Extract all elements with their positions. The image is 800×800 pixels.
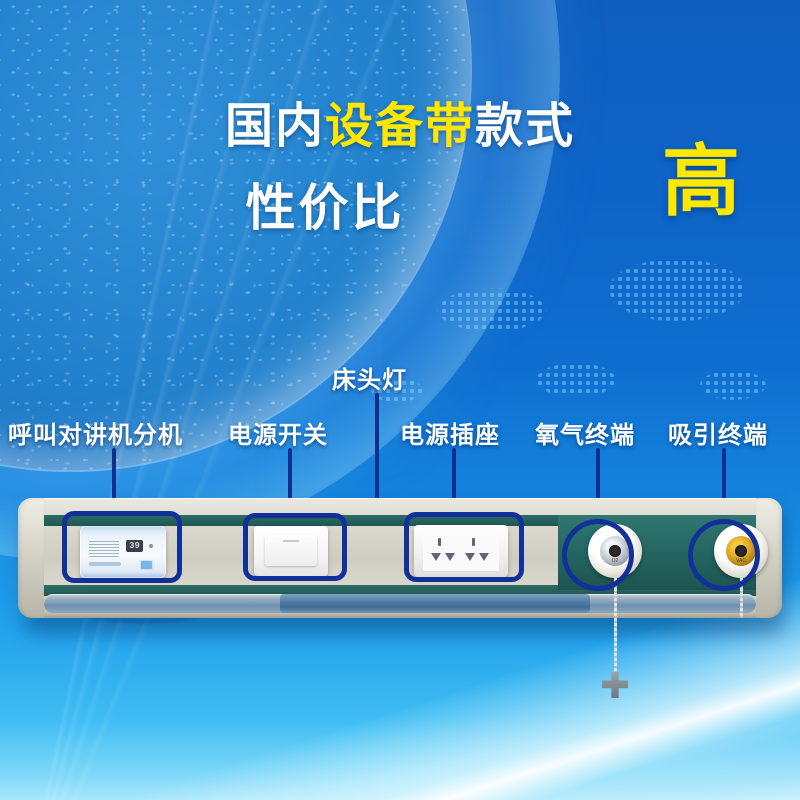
headline-emphasis-character: 高 (662, 142, 740, 220)
callout-label-oxygen: 氧气终端 (535, 415, 635, 450)
highlight-circle-suction (688, 519, 760, 591)
callout-label-suction: 吸引终端 (668, 415, 768, 450)
highlight-circle-oxygen (562, 519, 634, 591)
headline-block: 国内设备带款式 性价比 高 (0, 0, 800, 260)
highlight-box-intercom (62, 511, 182, 583)
highlight-box-switch (243, 513, 347, 581)
callout-label-switch: 电源开关 (228, 415, 328, 450)
oxygen-pull-cord[interactable] (614, 578, 617, 674)
headline-segment-white-1: 国内 (225, 100, 325, 153)
callout-label-socket: 电源插座 (400, 415, 500, 450)
promo-banner: 国内设备带款式 性价比 高 呼叫对讲机分机 电源开关 床头灯 电源插座 氧气终端… (0, 0, 800, 800)
callout-label-lamp: 床头灯 (332, 360, 407, 395)
headline-segment-white-2: 款式 (475, 100, 575, 153)
callout-label-intercom: 呼叫对讲机分机 (8, 415, 183, 450)
headline-segment-yellow: 设备带 (325, 100, 475, 153)
highlight-box-socket (404, 512, 524, 582)
headline-line-2: 性价比 (0, 168, 650, 240)
panel-end-cap-left (18, 498, 44, 618)
panel-bottom-rail-dark (280, 594, 590, 613)
